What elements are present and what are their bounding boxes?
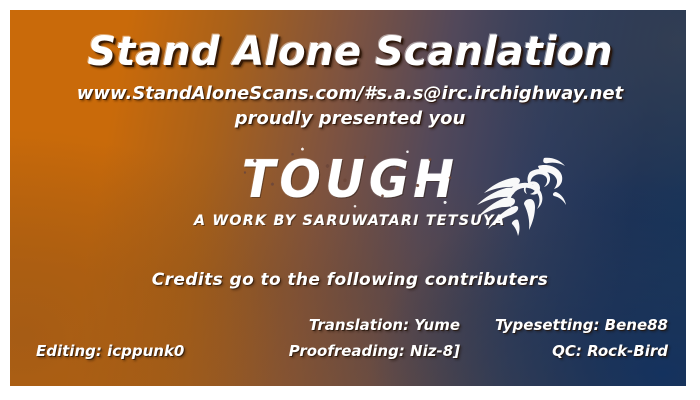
- website-url[interactable]: www.StandAloneScans.com: [77, 83, 357, 104]
- credit-qc: QC: Rock-Bird: [495, 338, 668, 364]
- work-title: TOUGH: [242, 153, 458, 205]
- work-byline-row: A WORK BY SARUWATARI TETSUYA: [0, 212, 700, 230]
- page-content: Stand Alone Scanlation www.StandAloneSca…: [0, 0, 700, 400]
- credits-page: Stand Alone Scanlation www.StandAloneSca…: [0, 0, 700, 400]
- work-title-row: TOUGH: [0, 156, 700, 202]
- credits-columns: Editing: icppunk0 Translation: Yume Proo…: [0, 312, 700, 372]
- credit-translation: Translation: Yume: [255, 312, 460, 338]
- irc-channel[interactable]: #s.a.s@irc.irchighway.net: [364, 83, 624, 104]
- work-byline: A WORK BY SARUWATARI TETSUYA: [194, 214, 506, 228]
- tribal-bird-icon: [468, 152, 572, 240]
- presented-row: proudly presented you: [0, 110, 700, 129]
- credits-column-right: Typesetting: Bene88 QC: Rock-Bird: [495, 312, 668, 364]
- contact-row: www.StandAloneScans.com/#s.a.s@irc.irchi…: [0, 85, 700, 104]
- group-name: Stand Alone Scanlation: [87, 29, 612, 75]
- credit-typesetting: Typesetting: Bene88: [495, 312, 668, 338]
- group-title-row: Stand Alone Scanlation: [0, 32, 700, 72]
- credits-heading-row: Credits go to the following contributers: [0, 272, 700, 290]
- contact-separator: /: [357, 83, 364, 104]
- credits-column-left: Editing: icppunk0: [36, 338, 184, 364]
- credit-proofreading: Proofreading: Niz-8]: [255, 338, 460, 364]
- presented-line: proudly presented you: [235, 108, 466, 129]
- credit-editing: Editing: icppunk0: [36, 338, 184, 364]
- credits-heading: Credits go to the following contributers: [152, 270, 548, 290]
- work-logo-block: TOUGH A WORK BY SARUWATARI TETSUYA: [0, 150, 700, 242]
- credits-column-middle: Translation: Yume Proofreading: Niz-8]: [255, 312, 460, 364]
